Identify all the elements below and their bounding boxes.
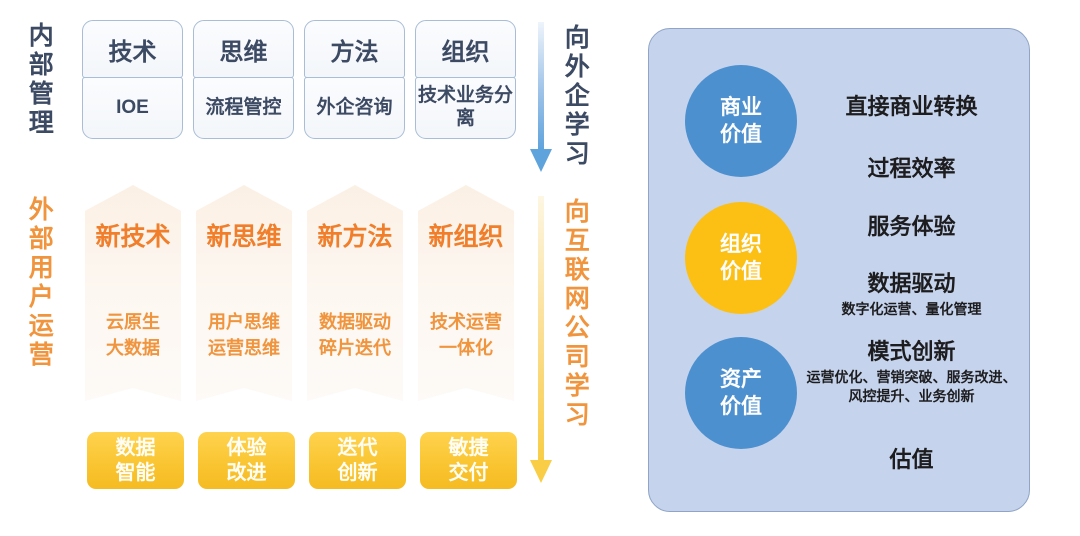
chip-data-intelligence: 数据智能 xyxy=(87,432,184,489)
value-panel: 商业价值 组织价值 资产价值 直接商业转换 过程效率 服务体验 数据驱动 数字化… xyxy=(648,28,1030,512)
value-item-detail: 运营优化、营销突破、服务改进、风控提升、业务创新 xyxy=(799,368,1024,406)
value-item-data-driven: 数据驱动 数字化运营、量化管理 xyxy=(799,266,1024,319)
top-box-sub: IOE xyxy=(82,77,183,139)
banner-title: 新思维 xyxy=(206,217,281,253)
banner-new-thinking: 新思维 用户思维运营思维 xyxy=(196,185,292,401)
label-learn-from-internet-companies: 向互联网公司学习 xyxy=(562,198,588,430)
value-item-main: 过程效率 xyxy=(799,151,1024,183)
banner-title: 新组织 xyxy=(428,217,503,253)
value-item-main: 直接商业转换 xyxy=(799,89,1024,121)
top-box-head: 技术 xyxy=(82,20,183,78)
label-learn-from-foreign-companies: 向外企学习 xyxy=(562,24,588,169)
chip-iterative-innovation: 迭代创新 xyxy=(309,432,406,489)
top-box-sub: 流程管控 xyxy=(193,77,294,139)
circle-asset-value: 资产价值 xyxy=(685,337,797,449)
banner-subtitle: 技术运营一体化 xyxy=(430,309,502,361)
value-item-direct-commercial-conversion: 直接商业转换 xyxy=(799,89,1024,123)
banner-new-technology: 新技术 云原生大数据 xyxy=(85,185,181,401)
value-item-valuation: 估值 xyxy=(799,442,1024,476)
arrow-shaft xyxy=(538,22,544,150)
value-item-model-innovation: 模式创新 运营优化、营销突破、服务改进、风控提升、业务创新 xyxy=(799,334,1024,406)
top-column-2: 思维 流程管控 xyxy=(193,20,294,139)
diagram-canvas: 内部管理 外部用户运营 技术 IOE 思维 流程管控 方法 外企咨询 组织 技术… xyxy=(0,0,1080,536)
arrow-head xyxy=(530,149,552,172)
banner-new-method: 新方法 数据驱动碎片迭代 xyxy=(307,185,403,401)
circle-business-value: 商业价值 xyxy=(685,65,797,177)
arrow-shaft xyxy=(538,196,544,461)
chip-agile-delivery: 敏捷交付 xyxy=(420,432,517,489)
top-column-4: 组织 技术业务分离 xyxy=(415,20,516,139)
circle-organization-value: 组织价值 xyxy=(685,202,797,314)
top-box-sub: 外企咨询 xyxy=(304,77,405,139)
banner-title: 新方法 xyxy=(317,217,392,253)
label-internal-management: 内部管理 xyxy=(26,22,52,138)
arrow-head xyxy=(530,460,552,483)
top-box-head: 方法 xyxy=(304,20,405,78)
value-item-main: 模式创新 xyxy=(799,334,1024,366)
chip-experience-improve: 体验改进 xyxy=(198,432,295,489)
value-item-main: 服务体验 xyxy=(799,209,1024,241)
value-item-main: 数据驱动 xyxy=(799,266,1024,298)
banner-new-organization: 新组织 技术运营一体化 xyxy=(418,185,514,401)
top-box-head: 思维 xyxy=(193,20,294,78)
value-item-detail: 数字化运营、量化管理 xyxy=(799,300,1024,319)
top-column-3: 方法 外企咨询 xyxy=(304,20,405,139)
label-external-user-operations: 外部用户运营 xyxy=(26,196,52,370)
top-column-1: 技术 IOE xyxy=(82,20,183,139)
value-item-process-efficiency: 过程效率 xyxy=(799,151,1024,185)
value-item-main: 估值 xyxy=(799,442,1024,474)
value-item-service-experience: 服务体验 xyxy=(799,209,1024,243)
banner-subtitle: 数据驱动碎片迭代 xyxy=(319,309,391,361)
banner-subtitle: 用户思维运营思维 xyxy=(208,309,280,361)
top-box-head: 组织 xyxy=(415,20,516,78)
arrow-down-blue-icon xyxy=(530,22,552,172)
banner-subtitle: 云原生大数据 xyxy=(106,309,160,361)
arrow-down-yellow-icon xyxy=(530,196,552,486)
top-box-sub: 技术业务分离 xyxy=(415,77,516,139)
banner-title: 新技术 xyxy=(95,217,170,253)
